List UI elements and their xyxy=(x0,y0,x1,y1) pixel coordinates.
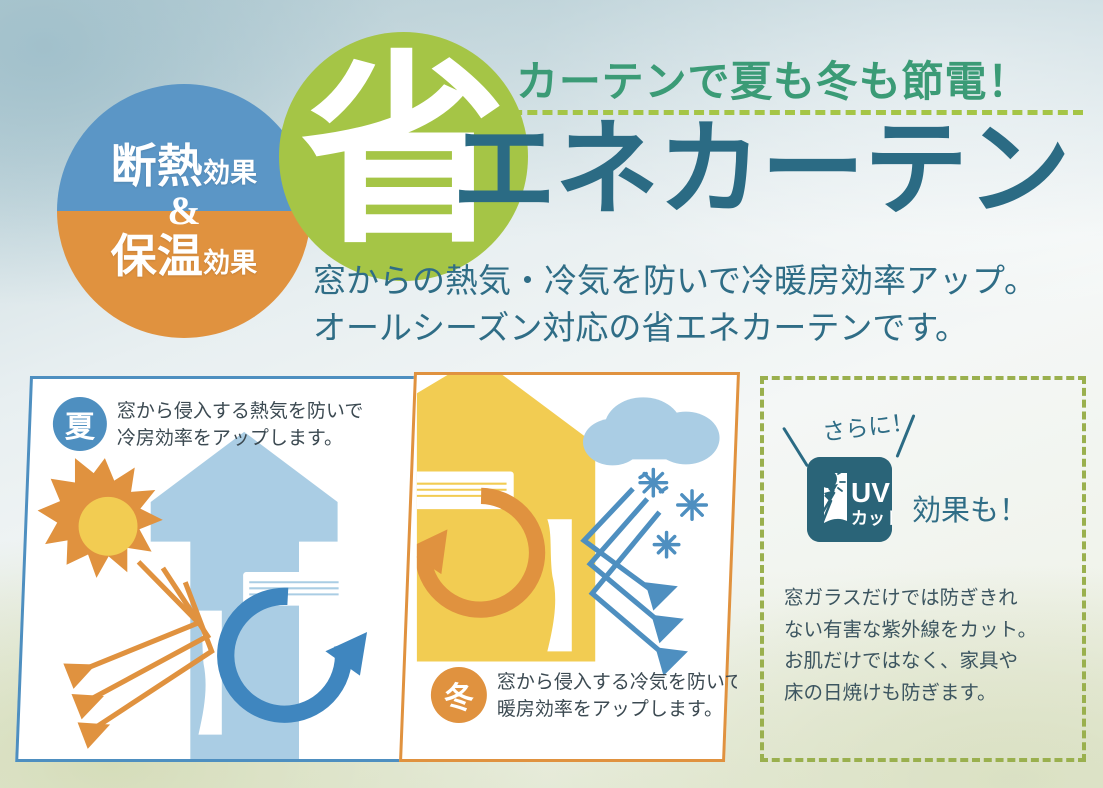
summer-caption: 窓から侵入する熱気を防いで 冷房効率をアップします。 xyxy=(117,399,363,453)
uv-desc-line-4: 床の日焼けも防ぎます。 xyxy=(784,678,1037,710)
badge-warmth-sub: 効果 xyxy=(203,248,257,278)
winter-caption: 窓から侵入する冷気を防いで 暖房効率をアップします。 xyxy=(497,670,737,724)
winter-caption-line-1: 窓から侵入する冷気を防いで xyxy=(497,670,737,697)
summer-caption-line-1: 窓から侵入する熱気を防いで xyxy=(117,399,363,426)
badge-text-stack: 断熱効果 & 保温効果 xyxy=(57,84,311,338)
kicker-headline: カーテンで夏も冬も節電！ xyxy=(516,48,1030,109)
winter-panel-inner: 冬 窓から侵入する冷気を防いで 暖房効率をアップします。 xyxy=(417,375,737,759)
snowflake-icon xyxy=(640,469,706,556)
badge-insulation-line: 断熱効果 xyxy=(111,143,258,189)
cloud-icon xyxy=(583,397,720,465)
uv-desc-line-1: 窓ガラスだけでは防ぎきれ xyxy=(784,583,1037,615)
infographic-root: 断熱効果 & 保温効果 省 カーテンで夏も冬も節電！ エネカーテン 窓からの熱気… xyxy=(0,0,1103,788)
summer-caption-line-2: 冷房効率をアップします。 xyxy=(117,426,363,453)
page-title: エネカーテン xyxy=(452,118,1070,222)
uv-effect-label: 効果も！ xyxy=(912,487,1028,529)
summer-panel-inner: 夏 窓から侵入する熱気を防いで 冷房効率をアップします。 xyxy=(33,379,421,759)
cold-ray-arrowhead-icon xyxy=(645,582,688,675)
lead-paragraph: 窓からの熱気・冷気を防いで冷暖房効率アップ。 オールシーズン対応の省エネカーテン… xyxy=(313,258,1037,352)
lead-line-1: 窓からの熱気・冷気を防いで冷暖房効率アップ。 xyxy=(313,258,1037,305)
uv-desc-line-3: お肌だけではなく、家具や xyxy=(784,646,1037,678)
badge-insulation-main: 断熱 xyxy=(111,140,203,192)
badge-warmth-main: 保温 xyxy=(111,230,203,282)
uv-cut-icon: UV カット xyxy=(807,457,892,542)
badge-ampersand: & xyxy=(167,191,200,231)
uv-icon-sub-text: カット xyxy=(851,509,892,528)
uv-icon-main-text: UV xyxy=(851,477,890,508)
heat-ray-arrowhead-icon xyxy=(63,663,110,748)
winter-panel: 冬 窓から侵入する冷気を防いで 暖房効率をアップします。 xyxy=(399,372,740,762)
uv-desc-line-2: ない有害な紫外線をカット。 xyxy=(784,615,1037,647)
badge-warmth-line: 保温効果 xyxy=(111,233,258,279)
summer-panel: 夏 窓から侵入する熱気を防いで 冷房効率をアップします。 xyxy=(15,376,424,762)
uv-cut-icon-art: UV カット xyxy=(807,457,892,542)
badge-insulation-sub: 効果 xyxy=(203,158,257,188)
uv-description: 窓ガラスだけでは防ぎきれ ない有害な紫外線をカット。 お肌だけではなく、家具や … xyxy=(784,583,1037,709)
summer-badge: 夏 xyxy=(53,397,107,451)
winter-caption-line-2: 暖房効率をアップします。 xyxy=(497,697,737,724)
sun-icon xyxy=(38,458,163,578)
winter-badge: 冬 xyxy=(431,667,487,723)
lead-line-2: オールシーズン対応の省エネカーテンです。 xyxy=(313,305,1037,352)
insulation-warmth-badge: 断熱効果 & 保温効果 xyxy=(57,84,311,338)
